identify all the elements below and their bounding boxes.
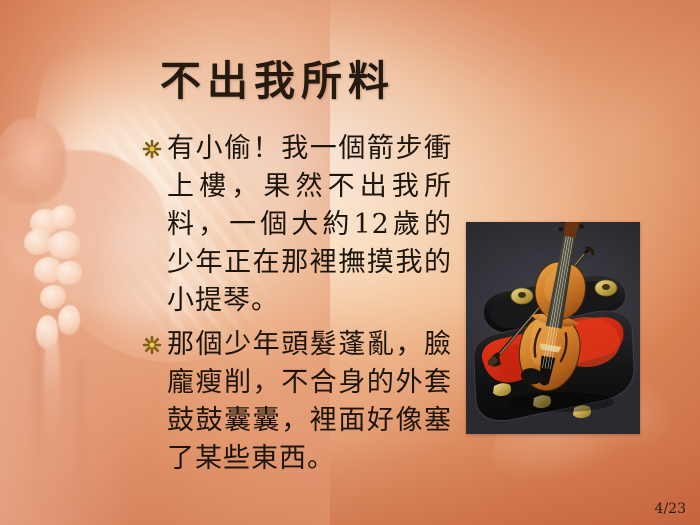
page-number: 4/23 bbox=[655, 501, 686, 517]
bullet-text: 那個少年頭髮蓬亂，臉龐瘦削，不合身的外套鼓鼓囊囊，裡面好像塞了某些東西。 bbox=[167, 326, 452, 478]
bullet-item-1: 有小偷！我一個箭步衝上樓，果然不出我所料，一個大約12歲的少年正在那裡撫摸我的小… bbox=[142, 130, 452, 320]
bullet-list: 有小偷！我一個箭步衝上樓，果然不出我所料，一個大約12歲的少年正在那裡撫摸我的小… bbox=[142, 130, 452, 484]
bullet-item-2: 那個少年頭髮蓬亂，臉龐瘦削，不合身的外套鼓鼓囊囊，裡面好像塞了某些東西。 bbox=[142, 326, 452, 478]
violin-case-graphic bbox=[466, 222, 640, 434]
asterisk-bullet-icon bbox=[142, 130, 164, 168]
asterisk-bullet-icon bbox=[142, 326, 164, 364]
bullet-text: 有小偷！我一個箭步衝上樓，果然不出我所料，一個大約12歲的少年正在那裡撫摸我的小… bbox=[167, 130, 452, 320]
violin-photo bbox=[466, 222, 640, 434]
slide-title: 不出我所料 bbox=[160, 55, 580, 107]
slide: 不出我所料 有小偷！我一個箭步衝上樓，果然不出我所料，一個大約12歲的少年正在那… bbox=[0, 0, 700, 525]
